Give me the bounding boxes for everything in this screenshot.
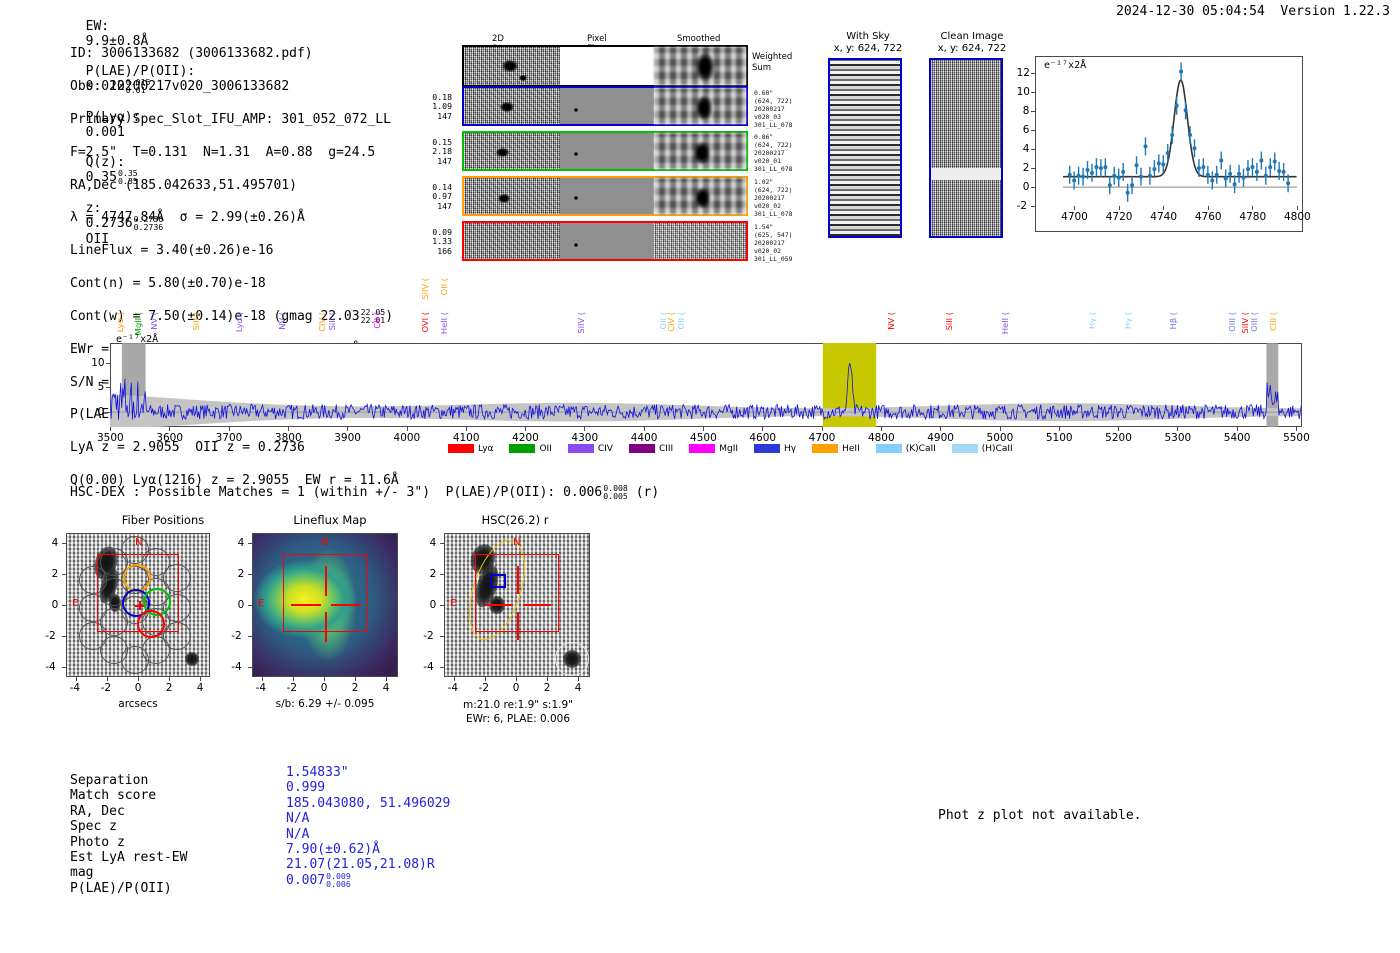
line-marker-label: MgII ( [133,312,143,335]
weighted-sum-row [462,45,748,87]
exposure-2dspec [464,133,560,169]
line-marker-label: OII ( [676,312,686,329]
info-line-radec: RA,Dec (185.042633,51.495701) [70,178,399,194]
exposure-smoothed [654,178,746,214]
exposure-pixelflat [560,88,654,124]
info-line-seeing: F=2.5" T=0.131 N=1.31 A=0.88 g=24.5 [70,145,399,161]
match-row-value: N/A [286,811,309,826]
hsc-r-image[interactable]: N E [444,533,590,677]
fiber-positions-image[interactable]: N E [66,533,210,677]
match-row-label: RA, Dec [70,804,125,819]
legend-swatch [689,444,715,453]
panel-y-tick: 4 [238,537,245,549]
compass-east: E [258,598,264,609]
match-row-label: Est LyA rest-EW [70,850,187,865]
clean-image-title: Clean Image x, y: 624, 722 [925,31,1019,55]
match-row-label: mag [70,865,93,880]
line-marker-label: SiIV ( [420,278,430,300]
panel-y-tick: -2 [45,630,55,642]
exposure-row [462,176,748,216]
panel-y-tick: 2 [52,568,59,580]
legend-label: MgII [719,444,738,454]
fiber-fov-box [97,554,179,632]
exposure-right-meta: 0.60" (624, 722) 20200217 v020_03 301_LL… [754,89,792,129]
timestamp-version: 2024-12-30 05:04:54 Version 1.22.3 [1116,4,1390,19]
panel-y-tick: -2 [231,630,241,642]
spectrum-legend: LyαOIICIVCIIIMgIIHγHeII(K)CaII(H)CaII [448,444,1029,454]
fiber-positions-title: Fiber Positions [63,513,263,527]
legend-item: OII [509,444,551,454]
exposure-smoothed [654,133,746,169]
panel-y-tick: 2 [430,568,437,580]
line-marker-label: NV ( [886,312,896,330]
line-marker-label: HeII ( [439,312,449,334]
exposure-right-meta: 1.02" (624, 722) 20200217 v020_02 301_LL… [754,178,792,218]
hsc-r-caption: m:21.0 re:1.9" s:1.9" EWr: 6, PLAE: 0.00… [430,698,606,726]
legend-item: (H)CaII [952,444,1013,454]
match-row-value: 0.0070.0090.006 [286,873,351,889]
match-row-label: Photo z [70,835,125,850]
line-marker-label: OIII ( [1249,312,1259,332]
line-marker-label: OVI ( [420,312,430,332]
exposure-pixelflat [560,178,654,214]
panel-x-tick: 4 [383,682,390,694]
legend-item: MgII [689,444,738,454]
compass-east: E [450,598,456,609]
info-line-id: ID: 3006133682 (3006133682.pdf) [70,46,399,62]
line-marker-label: SiII ( [944,312,954,330]
panel-y-tick: -4 [423,661,433,673]
exposure-smoothed [654,223,746,259]
legend-swatch [876,444,902,453]
legend-label: OII [539,444,551,454]
match-row-value: 185.043080, 51.496029 [286,796,450,811]
info-line-cont-n: Cont(n) = 5.80(±0.70)e-18 [70,276,399,292]
exposure-pixelflat [560,223,654,259]
match-row-label: P(LAE)/P(OII) [70,881,172,896]
weighted-sum-smoothed [654,47,746,85]
panel-y-tick: 0 [430,599,437,611]
exposure-smoothed [654,88,746,124]
match-row-label: Match score [70,788,156,803]
legend-label: (H)CaII [982,444,1013,454]
col-title-smoothed: Smoothed [677,34,720,44]
match-row-value: 7.90(±0.62)Å [286,842,380,857]
compass-east: E [72,598,78,609]
exposure-right-meta: 1.54" (625, 547) 20200217 v020_02 301_LL… [754,223,792,263]
line-marker-label: SiII ( [327,312,337,330]
legend-swatch [448,444,474,453]
hsc-dex-match-header: HSC-DEX : Possible Matches = 1 (within +… [70,485,659,501]
match-row-value: 1.54833" [286,765,349,780]
line-marker-label: Lyα ( [234,312,244,332]
panel-x-tick: -4 [70,682,80,694]
with-sky-title: With Sky x, y: 624, 722 [826,31,910,55]
weighted-sum-pixelflat [560,47,654,85]
panel-x-tick: 0 [321,682,328,694]
legend-swatch [568,444,594,453]
hscdex-plae-range: 0.0080.005 [603,485,628,501]
exposure-left-stats: 0.09 1.33 166 [408,228,452,256]
lineflux-map-title: Lineflux Map [250,513,410,527]
exposure-row [462,221,748,261]
legend-item: Lyα [448,444,493,454]
line-marker-label: NV ( [149,312,159,330]
match-row-label: Spec z [70,819,117,834]
legend-item: (K)CaII [876,444,936,454]
hsc-match-marker [490,574,506,588]
panel-y-tick: 4 [430,537,437,549]
info-line-lineflux: LineFlux = 3.40(±0.26)e-16 [70,243,399,259]
legend-item: CIV [568,444,613,454]
match-row-value: N/A [286,827,309,842]
lineflux-map-image[interactable]: N E [252,533,398,677]
compass-north: N [513,537,520,548]
panel-x-tick: 0 [135,682,142,694]
fiber-positions-xlabel: arcsecs [66,698,210,710]
panel-x-tick: -2 [287,682,297,694]
info-line-obs: Obs: 20200217v020_3006133682 [70,79,399,95]
line-marker-label: Hβ ( [1168,312,1178,329]
weighted-sum-2dspec [464,47,560,85]
panel-x-tick: -2 [479,682,489,694]
legend-label: (K)CaII [906,444,936,454]
compass-north: N [321,537,328,548]
line-marker-label: SiII ( [191,312,201,330]
line-marker-label: CIV ( [317,312,327,332]
clean-image [929,58,1003,238]
line-marker-label: CII ( [372,312,382,329]
line-marker-label: SiIV ( [576,312,586,334]
exposure-2dspec [464,223,560,259]
match-row-value: 0.999 [286,780,325,795]
legend-item: HeII [812,444,860,454]
line-marker-label: CIV ( [666,312,676,332]
panel-y-tick: -4 [231,661,241,673]
match-row-value: 21.07(21.05,21.08)R [286,857,435,872]
panel-y-tick: -2 [423,630,433,642]
line-marker-label: HeII ( [1000,312,1010,334]
exposure-2dspec [464,88,560,124]
legend-label: Lyα [478,444,493,454]
photz-unavailable-message: Phot z plot not available. [938,808,1142,823]
exposure-pixelflat [560,133,654,169]
hsc-r-title: HSC(26.2) r [435,513,595,527]
exposure-2dspec [464,178,560,214]
panel-x-tick: 4 [197,682,204,694]
info-line-lambda-sigma: λ = 4747.84Å σ = 2.99(±0.26)Å [70,210,399,226]
line-marker-label: Hγ ( [1087,312,1097,329]
legend-label: CIV [598,444,613,454]
legend-swatch [629,444,655,453]
panel-x-tick: 2 [352,682,359,694]
line-marker-label: Lyα ( [115,312,125,332]
line-marker-label: NV ( [277,312,287,330]
panel-y-tick: -4 [45,661,55,673]
line-marker-label: CIII ( [1268,312,1278,331]
weighted-sum-label: Weighted Sum [752,52,792,73]
match-row-label: Separation [70,773,148,788]
exposure-right-meta: 0.86" (624, 722) 20200217 v020_01 301_LL… [754,133,792,173]
panel-y-tick: 2 [238,568,245,580]
line-marker-label: Hγ ( [1123,312,1133,329]
exposure-row [462,131,748,171]
exposure-left-stats: 0.15 2.18 147 [408,138,452,166]
panel-x-tick: -4 [256,682,266,694]
line-profile-canvas [1035,56,1303,232]
panel-y-tick: 0 [238,599,245,611]
legend-swatch [952,444,978,453]
panel-x-tick: -2 [101,682,111,694]
line-marker-label: OIII ( [1227,312,1237,332]
legend-item: CIII [629,444,673,454]
legend-item: Hγ [754,444,796,454]
compass-north: N [135,537,142,548]
panel-x-tick: 4 [575,682,582,694]
exposure-left-stats: 0.14 0.97 147 [408,183,452,211]
line-marker-label: OII ( [439,278,449,295]
legend-label: HeII [842,444,860,454]
exposure-row [462,86,748,126]
panel-x-tick: 2 [544,682,551,694]
full-spectrum-canvas [110,343,1302,427]
match-plae-range: 0.0090.006 [326,873,351,889]
panel-x-tick: -4 [448,682,458,694]
with-sky-image [828,58,902,238]
legend-swatch [754,444,780,453]
panel-y-tick: 0 [52,599,59,611]
legend-label: CIII [659,444,673,454]
legend-swatch [509,444,535,453]
panel-x-tick: 0 [513,682,520,694]
legend-label: Hγ [784,444,796,454]
exposure-left-stats: 0.18 1.09 147 [408,93,452,121]
legend-swatch [812,444,838,453]
panel-x-tick: 2 [166,682,173,694]
lineflux-map-caption: s/b: 6.29 +/- 0.095 [240,698,410,710]
info-line-primary-spec: Primary Spec_Slot_IFU_AMP: 301_052_072_L… [70,112,399,128]
panel-y-tick: 4 [52,537,59,549]
